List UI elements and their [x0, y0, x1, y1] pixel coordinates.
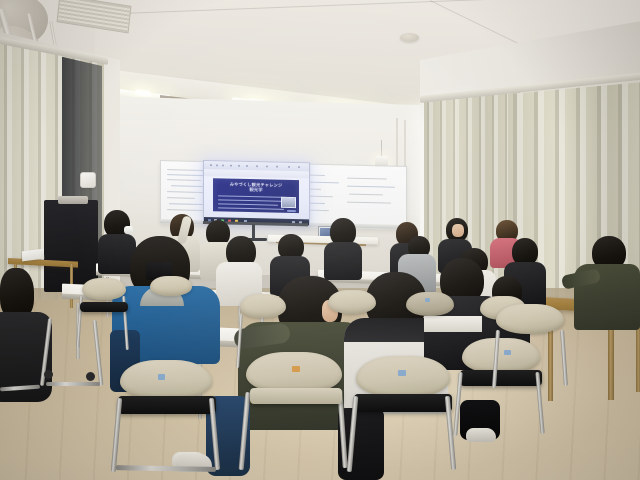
shoe — [466, 428, 496, 442]
wall-speaker-icon — [80, 172, 96, 188]
slide-footer-logo — [287, 210, 296, 212]
chair-back-foreground[interactable] — [120, 360, 212, 400]
face-mask — [124, 226, 133, 234]
chair-back[interactable] — [150, 276, 192, 296]
slide-subtitle: 観光学 — [249, 188, 262, 193]
caster-wheel — [44, 370, 53, 379]
projection-screen: みやづくし観光チャレンジ 観光学 — [203, 160, 310, 226]
person-body — [324, 242, 362, 280]
ceiling-speaker-icon — [400, 33, 419, 42]
chair-base-rail — [46, 382, 100, 386]
chair-seat[interactable] — [460, 370, 542, 386]
face — [452, 224, 464, 237]
chair-back[interactable] — [496, 304, 564, 334]
chair-sticker — [158, 374, 165, 380]
slide-app-ribbon — [204, 169, 309, 178]
chair-back-foreground[interactable] — [356, 356, 450, 398]
chair-sticker — [425, 298, 430, 302]
chair-seat[interactable] — [250, 388, 342, 404]
chair-back[interactable] — [240, 294, 286, 318]
classroom-photo: みやづくし観光チャレンジ 観光学 — [0, 0, 640, 480]
chair-seat[interactable] — [354, 394, 452, 412]
chair-back[interactable] — [328, 290, 376, 314]
chair-seat[interactable] — [80, 302, 128, 312]
caster-wheel — [86, 372, 95, 381]
slide-image-thumb — [281, 197, 296, 208]
chair-sticker — [398, 370, 406, 376]
chair-sticker — [292, 366, 300, 372]
equipment-top — [58, 196, 88, 204]
chair-back-foreground[interactable] — [462, 338, 540, 374]
chair-sticker — [504, 350, 511, 355]
chair-seat[interactable] — [118, 396, 216, 414]
chair-back[interactable] — [406, 292, 454, 316]
current-slide: みやづくし観光チャレンジ 観光学 — [213, 178, 299, 213]
chair-back[interactable] — [82, 278, 126, 300]
